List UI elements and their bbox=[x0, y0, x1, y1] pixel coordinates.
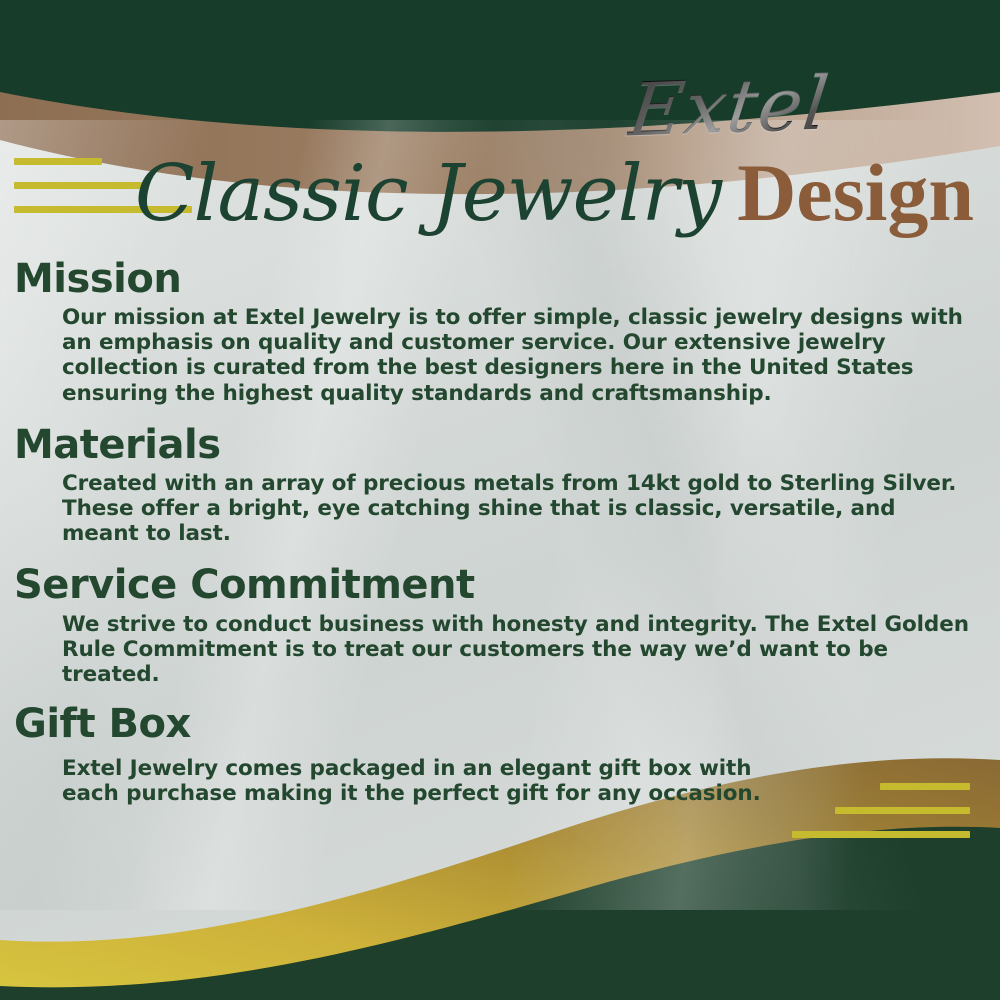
section-body-gift-box: Extel Jewelry comes packaged in an elega… bbox=[62, 756, 762, 806]
gold-rule bbox=[835, 807, 970, 814]
page-title: Classic JewelryDesign bbox=[0, 152, 974, 234]
section-service-commitment: Service Commitment We strive to conduct … bbox=[14, 564, 976, 687]
section-mission: Mission Our mission at Extel Jewelry is … bbox=[14, 258, 976, 406]
page-title-primary: Classic Jewelry bbox=[135, 149, 721, 239]
gold-rule bbox=[880, 783, 970, 790]
section-body-mission: Our mission at Extel Jewelry is to offer… bbox=[62, 305, 976, 406]
section-body-materials: Created with an array of precious metals… bbox=[62, 471, 976, 546]
brand-logo-extel: Extel bbox=[625, 67, 833, 148]
gold-rule bbox=[792, 831, 970, 838]
decorative-rules-bottom-right bbox=[792, 783, 970, 855]
poster-canvas: Extel Classic JewelryDesign Mission Our … bbox=[0, 0, 1000, 1000]
section-title-service-commitment: Service Commitment bbox=[14, 564, 976, 607]
section-title-materials: Materials bbox=[14, 424, 976, 467]
poster-content: Extel Classic JewelryDesign Mission Our … bbox=[0, 0, 1000, 1000]
page-title-secondary: Design bbox=[737, 147, 974, 238]
section-materials: Materials Created with an array of preci… bbox=[14, 424, 976, 547]
section-title-mission: Mission bbox=[14, 258, 976, 301]
sections-list: Mission Our mission at Extel Jewelry is … bbox=[14, 258, 976, 822]
section-body-service-commitment: We strive to conduct business with hones… bbox=[62, 612, 976, 687]
section-title-gift-box: Gift Box bbox=[14, 703, 976, 746]
